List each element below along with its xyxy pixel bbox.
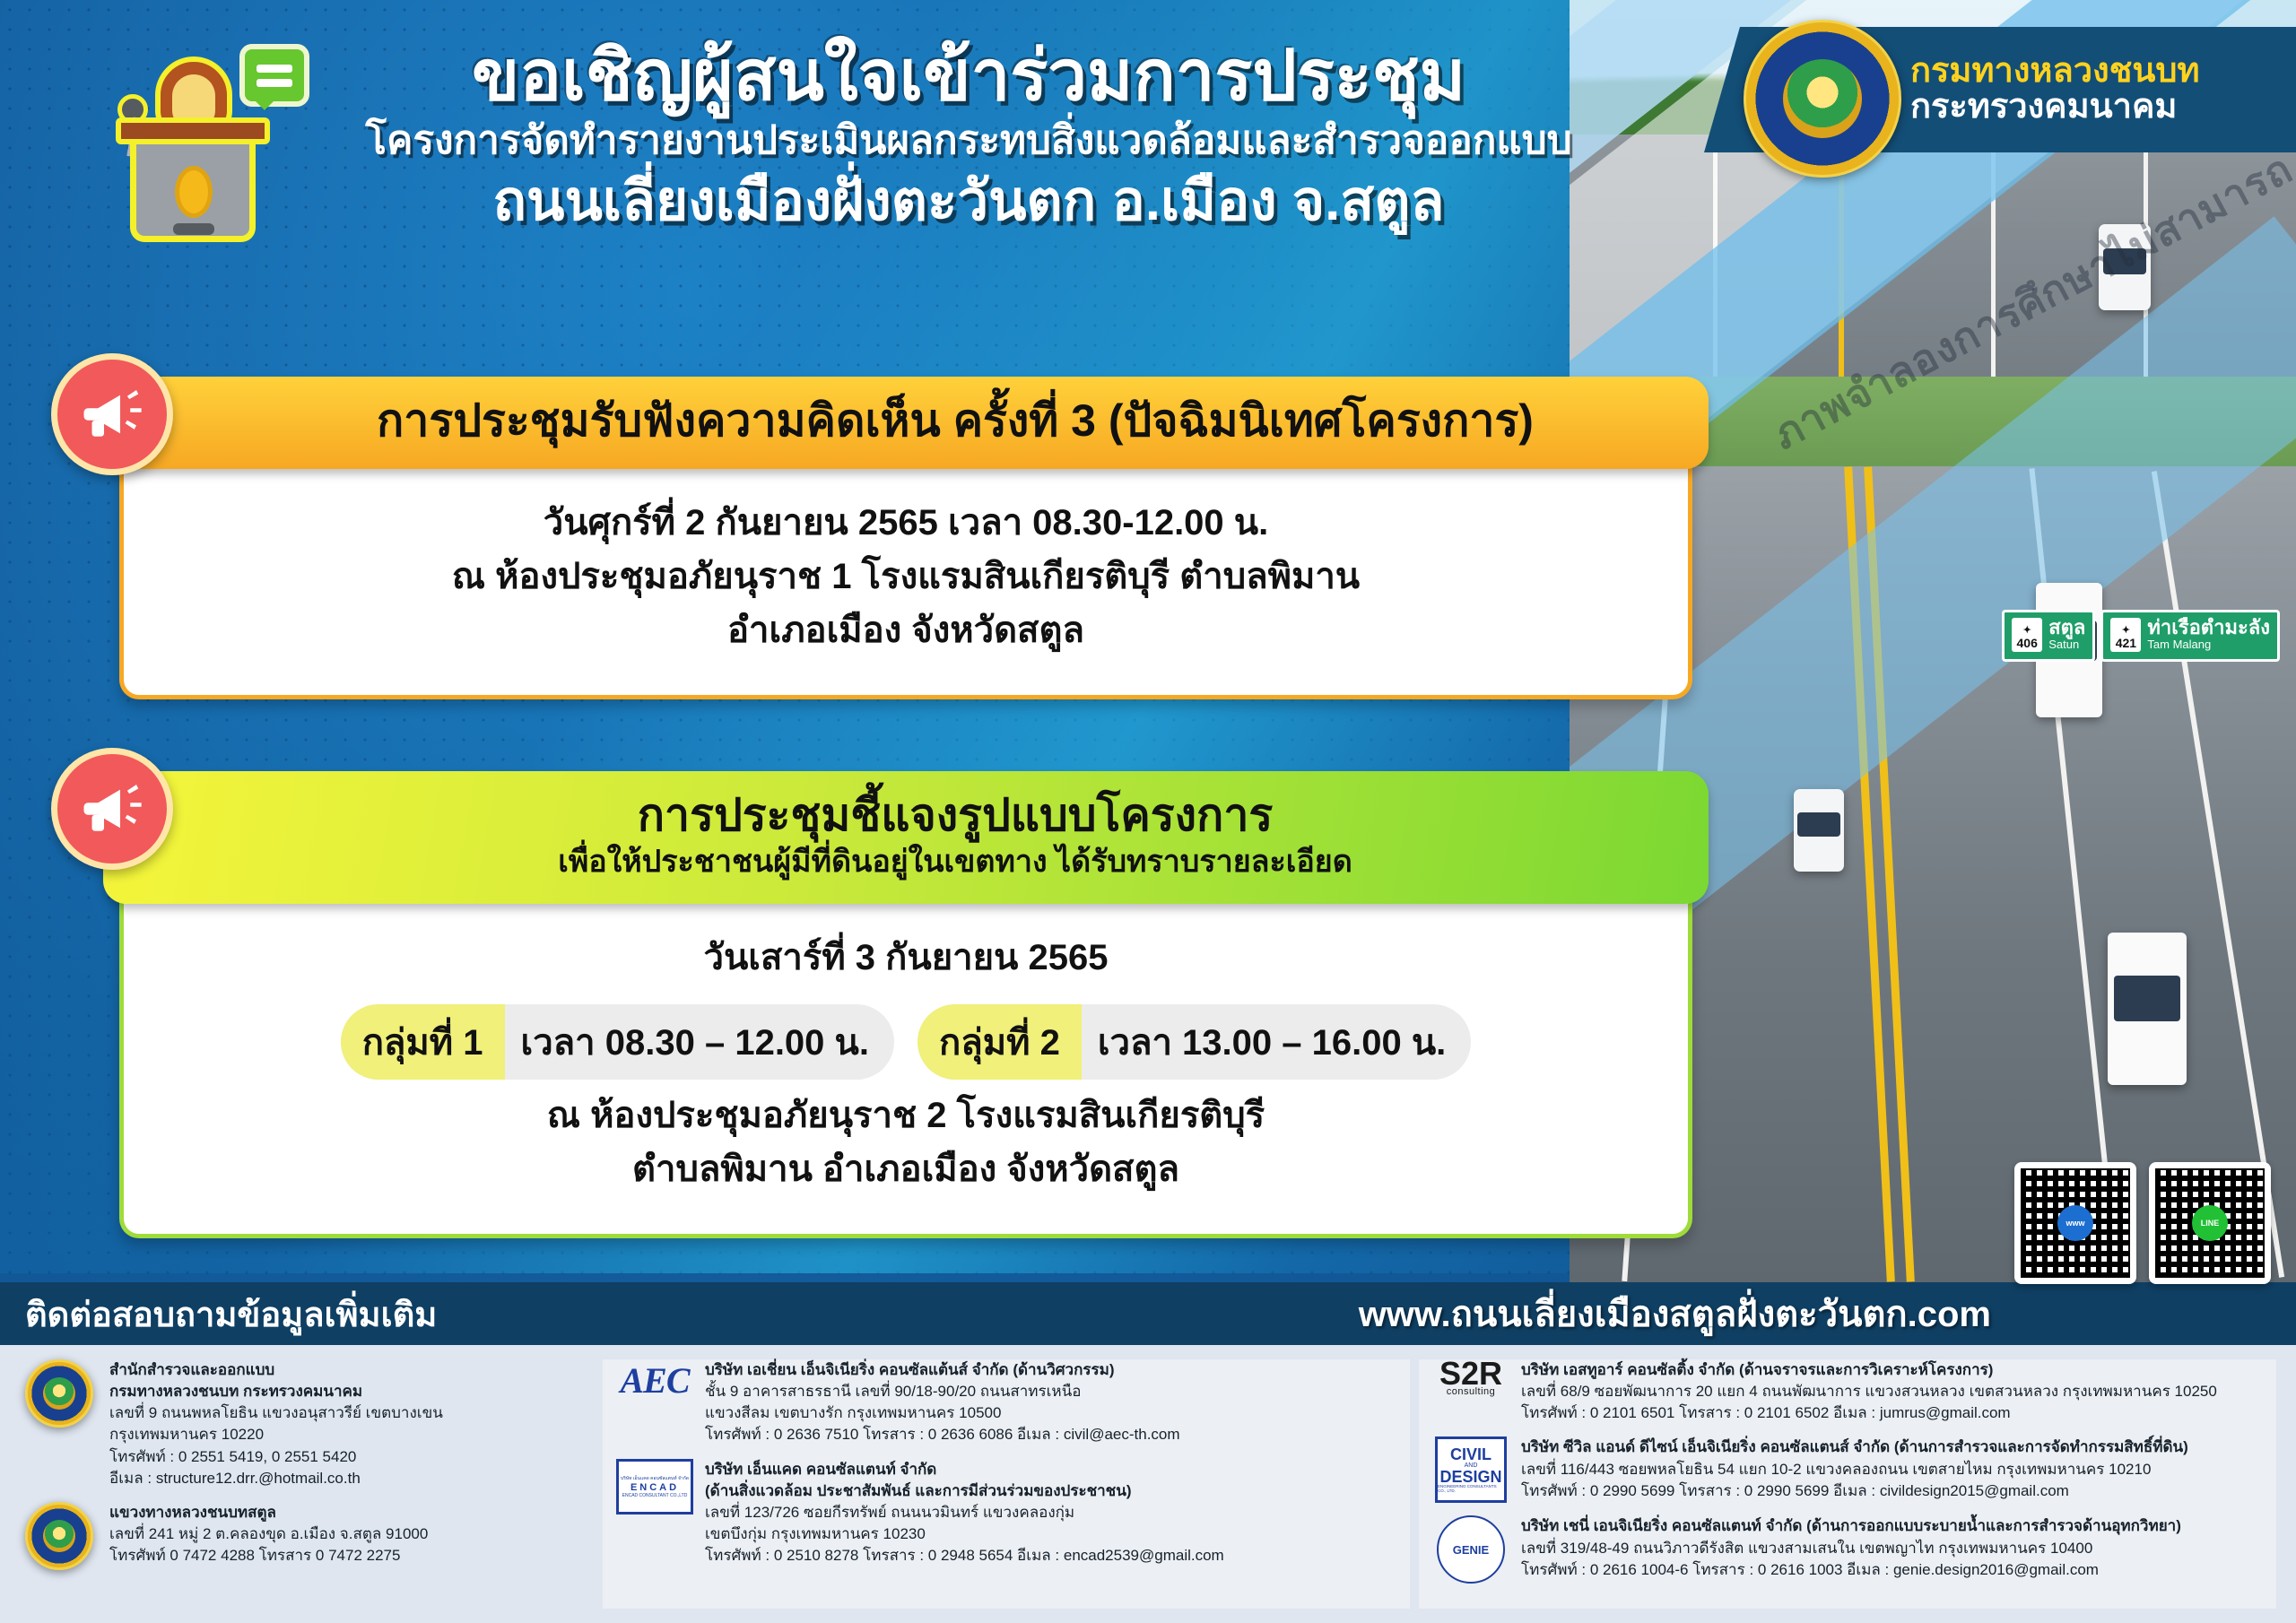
encad-logo-icon: บริษัท เอ็นแคด คอนซัลแตนท์ จำกัด ENCAD E… <box>615 1459 694 1567</box>
meeting-1-line-3: อำเภอเมือง จังหวัดสตูล <box>160 603 1652 657</box>
contact-entry: GENIE บริษัท เชนี่ เอนจิเนียริ่ง คอนซัลแ… <box>1431 1515 2276 1584</box>
s2r-logo-icon: S2Rconsulting <box>1431 1359 1510 1424</box>
route-shield-421: ✦ 421 <box>2110 618 2141 652</box>
podium-emblem <box>175 166 213 218</box>
aec-logo-icon: AEC <box>615 1359 694 1446</box>
org-name-line1: บริษัท เอเชี่ยน เอ็นจิเนียริ่ง คอนซัลแต้… <box>705 1361 1115 1378</box>
meeting-card-2: การประชุมชี้แจงรูปแบบโครงการ เพื่อให้ประ… <box>103 771 1709 1238</box>
department-of-rural-roads-seal-icon <box>1744 20 1901 178</box>
meeting-2-venue-2: ตำบลพิมาน อำเภอเมือง จังหวัดสตูล <box>160 1142 1652 1196</box>
org-phone: โทรศัพท์ : 0 2616 1004-6 โทรสาร : 0 2616… <box>1521 1561 2099 1578</box>
org-name-line1: บริษัท เชนี่ เอนจิเนียริ่ง คอนซัลแตนท์ จ… <box>1521 1517 2181 1534</box>
meeting-2-groups: กลุ่มที่ 1 เวลา 08.30 – 12.00 น. กลุ่มที… <box>160 1004 1652 1080</box>
org-address-1: เลขที่ 116/443 ซอยพหลโยธิน 54 แยก 10-2 แ… <box>1521 1461 2151 1478</box>
org-phone: โทรศัพท์ : 0 2990 5699 โทรสาร : 0 2990 5… <box>1521 1482 2069 1499</box>
meeting-2-date: วันเสาร์ที่ 3 กันยายน 2565 <box>160 931 1652 985</box>
route-wing-icon: ✦ <box>2122 626 2130 636</box>
photo-truck <box>2108 933 2187 1085</box>
seal-figure <box>1783 59 1862 138</box>
meeting-2-venue-1: ณ ห้องประชุมอภัยนุราช 2 โรงแรมสินเกียรติ… <box>160 1089 1652 1142</box>
speaker-podium-icon <box>85 31 309 247</box>
org-address-2: แขวงสีลม เขตบางรัก กรุงเทพมหานคร 10500 <box>705 1404 1001 1421</box>
project-website[interactable]: www.ถนนเลี่ยงเมืองสตูลฝั่งตะวันตก.com <box>1359 1285 1991 1342</box>
photo-vehicle <box>1794 789 1844 872</box>
meeting-1-line-2: ณ ห้องประชุมอภัยนุราช 1 โรงแรมสินเกียรติ… <box>160 550 1652 603</box>
group-2-time: เวลา 13.00 – 16.00 น. <box>1082 1004 1471 1080</box>
meeting-1-line-1: วันศุกร์ที่ 2 กันยายน 2565 เวลา 08.30-12… <box>160 496 1652 550</box>
org-name-line1: บริษัท ซีวิล แอนด์ ดีไซน์ เอ็นจิเนียริ่ง… <box>1521 1438 2188 1455</box>
meeting-2-title: การประชุมชี้แจงรูปแบบโครงการ <box>238 791 1673 840</box>
qr-code-line[interactable]: LINE <box>2149 1162 2271 1284</box>
group-2-name: กลุ่มที่ 2 <box>918 1004 1082 1080</box>
org-phone: โทรศัพท์ : 0 2101 6501 โทรสาร : 0 2101 6… <box>1521 1404 2011 1421</box>
org-address-1: เลขที่ 68/9 ซอยพัฒนาการ 20 แยก 4 ถนนพัฒน… <box>1521 1383 2217 1400</box>
agency-name-line2: กระทรวงคมนาคม <box>1910 90 2200 126</box>
contact-label: ติดต่อสอบถามข้อมูลเพิ่มเติม <box>25 1287 437 1341</box>
group-1-time: เวลา 08.30 – 12.00 น. <box>505 1004 894 1080</box>
guide-sign-satun: ✦ 406 สตูล Satun <box>2002 610 2095 662</box>
org-name-line1: สำนักสำรวจและออกแบบ <box>109 1361 274 1378</box>
org-email[interactable]: อีเมล : structure12.drr.@hotmail.co.th <box>109 1470 361 1487</box>
meeting-card-1: การประชุมรับฟังความคิดเห็น ครั้งที่ 3 (ป… <box>103 377 1709 699</box>
meeting-1-title: การประชุมรับฟังความคิดเห็น ครั้งที่ 3 (ป… <box>238 396 1673 446</box>
footer-column-consultants-b: S2Rconsulting บริษัท เอสทูอาร์ คอนซัลติ้… <box>1419 1359 2276 1609</box>
genie-logo-icon: GENIE <box>1431 1515 1510 1584</box>
org-name-line1: บริษัท เอ็นแคด คอนซัลแตนท์ จำกัด <box>705 1461 936 1478</box>
agency-name-line1: กรมทางหลวงชนบท <box>1910 54 2200 90</box>
org-name-line1: บริษัท เอสทูอาร์ คอนซัลติ้ง จำกัด (ด้านจ… <box>1521 1361 1993 1378</box>
org-address-1: ชั้น 9 อาคารสาธรธานี เลขที่ 90/18-90/20 … <box>705 1383 1081 1400</box>
contact-entry: บริษัท เอ็นแคด คอนซัลแตนท์ จำกัด ENCAD E… <box>615 1459 1410 1567</box>
org-name-line1: แขวงทางหลวงชนบทสตูล <box>109 1504 276 1521</box>
civil-and-design-logo-icon: CIVILANDDESIGNENGINEERING CONSULTANTS CO… <box>1431 1436 1510 1503</box>
qr-code-website[interactable]: www <box>2014 1162 2136 1284</box>
sign-text-th: สตูล <box>2048 618 2085 638</box>
org-name-line2: (ด้านสิ่งแวดล้อม ประชาสัมพันธ์ และการมีส… <box>705 1482 1132 1499</box>
highway-guide-signs: ✦ 406 สตูล Satun ✦ 421 ท่าเรือตำมะลัง Ta… <box>2002 610 2280 662</box>
megaphone-icon <box>51 748 173 870</box>
drr-seal-icon <box>20 1502 99 1570</box>
meeting-2-body: วันเสาร์ที่ 3 กันยายน 2565 กลุ่มที่ 1 เว… <box>119 888 1692 1238</box>
line-icon: LINE <box>2192 1205 2228 1241</box>
meeting-1-header: การประชุมรับฟังความคิดเห็น ครั้งที่ 3 (ป… <box>103 377 1709 469</box>
road-title: ถนนเลี่ยงเมืองฝั่งตะวันตก อ.เมือง จ.สตูล <box>296 172 1641 232</box>
group-1-name: กลุ่มที่ 1 <box>341 1004 505 1080</box>
org-address-1: เลขที่ 9 ถนนพหลโยธิน แขวงอนุสาวรีย์ เขตบ… <box>109 1404 443 1421</box>
org-phone: โทรศัพท์ : 0 2510 8278 โทรสาร : 0 2948 5… <box>705 1547 1224 1564</box>
project-subtitle: โครงการจัดทำรายงานประเมินผลกระทบสิ่งแวดล… <box>296 119 1641 162</box>
meeting-2-header: การประชุมชี้แจงรูปแบบโครงการ เพื่อให้ประ… <box>103 771 1709 904</box>
org-phone: โทรศัพท์ : 0 2551 5419, 0 2551 5420 <box>109 1448 356 1465</box>
sign-text-th: ท่าเรือตำมะลัง <box>2147 618 2270 638</box>
contact-entry: แขวงทางหลวงชนบทสตูล เลขที่ 241 หมู่ 2 ต.… <box>20 1502 594 1570</box>
footer-column-government: สำนักสำรวจและออกแบบ กรมทางหลวงชนบท กระทร… <box>20 1359 594 1609</box>
route-shield-406: ✦ 406 <box>2012 618 2042 652</box>
footer-bar: ติดต่อสอบถามข้อมูลเพิ่มเติม www.ถนนเลี่ย… <box>0 1282 2296 1345</box>
contact-entry: CIVILANDDESIGNENGINEERING CONSULTANTS CO… <box>1431 1436 2276 1503</box>
org-name-line2: กรมทางหลวงชนบท กระทรวงคมนาคม <box>109 1383 362 1400</box>
route-number: 421 <box>2116 637 2136 649</box>
org-address-2: กรุงเทพมหานคร 10220 <box>109 1426 264 1443</box>
megaphone-icon <box>51 353 173 475</box>
meeting-2-subtitle: เพื่อให้ประชาชนผู้มีที่ดินอยู่ในเขตทาง ไ… <box>238 844 1673 881</box>
meeting-1-body: วันศุกร์ที่ 2 กันยายน 2565 เวลา 08.30-12… <box>119 453 1692 699</box>
contact-entry: สำนักสำรวจและออกแบบ กรมทางหลวงชนบท กระทร… <box>20 1359 594 1489</box>
org-address-1: เลขที่ 123/726 ซอยกีรทรัพย์ ถนนนวมินทร์ … <box>705 1504 1074 1521</box>
org-address-2: เขตบึงกุ่ม กรุงเทพมหานคร 10230 <box>705 1525 926 1542</box>
org-phone: โทรศัพท์ 0 7472 4288 โทรสาร 0 7472 2275 <box>109 1547 400 1564</box>
contact-entry: S2Rconsulting บริษัท เอสทูอาร์ คอนซัลติ้… <box>1431 1359 2276 1424</box>
group-2-pill: กลุ่มที่ 2 เวลา 13.00 – 16.00 น. <box>918 1004 1471 1080</box>
poster-root: ภาพจำลองการศึกษาไม่สามารถ ✦ 406 สตูล Sat… <box>0 0 2296 1623</box>
footer-contacts: สำนักสำรวจและออกแบบ กรมทางหลวงชนบท กระทร… <box>0 1345 2296 1623</box>
globe-icon: www <box>2057 1205 2093 1241</box>
sign-text-en: Tam Malang <box>2147 638 2270 652</box>
org-phone: โทรศัพท์ : 0 2636 7510 โทรสาร : 0 2636 6… <box>705 1426 1180 1443</box>
route-number: 406 <box>2017 637 2038 649</box>
footer-column-consultants-a: AEC บริษัท เอเชี่ยน เอ็นจิเนียริ่ง คอนซั… <box>603 1359 1410 1609</box>
sign-text-en: Satun <box>2048 638 2085 652</box>
org-address-1: เลขที่ 319/48-49 ถนนวิภาวดีรังสิต แขวงสา… <box>1521 1540 2092 1557</box>
podium-slot <box>173 223 214 235</box>
group-1-pill: กลุ่มที่ 1 เวลา 08.30 – 12.00 น. <box>341 1004 894 1080</box>
qr-code-group: www LINE <box>2014 1162 2271 1284</box>
org-address-1: เลขที่ 241 หมู่ 2 ต.คลองขุด อ.เมือง จ.สต… <box>109 1525 428 1542</box>
drr-seal-icon <box>20 1359 99 1489</box>
page-title: ขอเชิญผู้สนใจเข้าร่วมการประชุม โครงการจั… <box>296 39 1641 231</box>
guide-sign-tam-malang: ✦ 421 ท่าเรือตำมะลัง Tam Malang <box>2100 610 2280 662</box>
contact-entry: AEC บริษัท เอเชี่ยน เอ็นจิเนียริ่ง คอนซั… <box>615 1359 1410 1446</box>
route-wing-icon: ✦ <box>2023 626 2031 636</box>
photo-vehicle <box>2099 224 2151 310</box>
invite-headline: ขอเชิญผู้สนใจเข้าร่วมการประชุม <box>296 39 1641 112</box>
podium-top <box>116 117 270 144</box>
